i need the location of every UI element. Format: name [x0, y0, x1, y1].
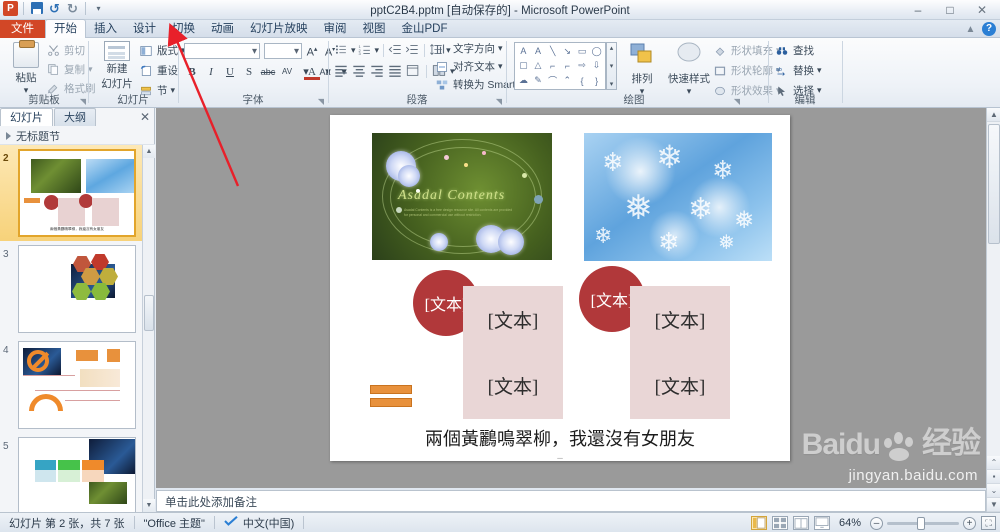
shape-arrow-icon[interactable]: ↘: [560, 44, 575, 59]
thumb-circle-1: [44, 195, 59, 210]
shape-left-brace-icon[interactable]: {: [575, 73, 590, 88]
shape-right-brace-icon[interactable]: }: [589, 73, 604, 88]
window-controls: – □ ✕: [902, 0, 998, 19]
shape-triangle-icon[interactable]: △: [531, 59, 546, 74]
slide-circle-1-text: [文本]: [425, 291, 468, 315]
scroll-down-icon[interactable]: ▼: [987, 498, 1000, 512]
slide-textbox-2-line-2: [文本]: [655, 372, 706, 399]
window-title: pptC2B4.pptm [自动保存的] - Microsoft PowerPo…: [0, 2, 1000, 18]
text-direction-label: 文字方向: [453, 41, 495, 56]
shape-cloud-icon[interactable]: ☁: [516, 73, 531, 88]
cut-label: 剪切: [64, 43, 85, 58]
thumb-circle-2: [79, 194, 93, 208]
divider: [88, 41, 89, 103]
divider: [768, 41, 769, 103]
font-name-combo[interactable]: ▾: [184, 43, 260, 59]
slide-image-title: Asadal Contents: [398, 188, 505, 204]
tab-kingsoft-pdf[interactable]: 金山PDF: [394, 20, 456, 38]
divider: [178, 41, 179, 103]
tab-slideshow[interactable]: 幻灯片放映: [242, 20, 316, 38]
reset-label: 重设: [157, 63, 178, 78]
align-center-icon[interactable]: [352, 64, 367, 78]
increase-indent-icon[interactable]: [405, 43, 420, 57]
ribbon-group-clipboard: 粘贴 ▾ 剪切 复制 ▾: [0, 38, 88, 108]
zoom-out-button[interactable]: –: [870, 517, 883, 530]
replace-arrow[interactable]: ▾: [817, 65, 822, 76]
layout-icon: [140, 44, 154, 58]
collapse-triangle-icon[interactable]: [6, 132, 11, 140]
shape-fill-icon: [714, 44, 728, 58]
thumbnail-number: 5: [3, 441, 9, 452]
thumbnail-slide-2[interactable]: 2 兩個黃鸝鳴翠柳，我還沒有女朋友: [0, 145, 143, 241]
slides-pane: 幻灯片 大纲 ✕ 无标题节 2 兩個黃鸝鳴翠柳，我還沒有女朋友: [0, 108, 155, 512]
replace-label: 替换: [793, 63, 814, 78]
divider: [383, 44, 384, 57]
strikethrough-button[interactable]: abc: [260, 64, 276, 80]
tab-home[interactable]: 开始: [45, 19, 86, 38]
shape-textbox-vertical-icon[interactable]: A: [531, 44, 546, 59]
ribbon-group-editing: 查找 ab 替换 ▾ 选择 ▾ 编辑: [770, 38, 840, 108]
scrollbar-thumb[interactable]: [988, 124, 1000, 244]
character-spacing-button[interactable]: AV: [279, 64, 295, 80]
slide-caption[interactable]: 兩個黃鸝鳴翠柳，我還沒有女朋友: [330, 425, 790, 451]
align-text-icon: [436, 60, 450, 74]
zoom-knob[interactable]: [917, 517, 925, 530]
watermark-brand-cn: 经验: [922, 418, 980, 462]
replace-icon: ab: [776, 64, 790, 78]
zoom-slider[interactable]: – +: [870, 517, 976, 530]
divider: [328, 41, 329, 103]
svg-text:ab: ab: [776, 67, 782, 73]
thumbnail-caption: 兩個黃鸝鳴翠柳，我還沒有女朋友: [20, 227, 134, 232]
status-bar: 幻灯片 第 2 张，共 7 张 "Office 主题" 中文(中国) 64%: [0, 512, 1000, 532]
slides-pane-scrollbar[interactable]: ▲ ▼: [142, 145, 154, 512]
previous-slide-icon[interactable]: ⌃: [987, 456, 1000, 470]
divider: [842, 41, 843, 103]
font-size-combo[interactable]: ▾: [264, 43, 302, 59]
svg-text:3: 3: [358, 51, 361, 56]
arrange-label: 排列: [622, 71, 662, 86]
thumbnail-number: 2: [3, 153, 9, 164]
slide-orange-bar-2[interactable]: [370, 398, 412, 407]
thumb-tile-3b: [82, 470, 104, 482]
slide-footer-dash: –: [330, 453, 790, 464]
underline-button[interactable]: U: [222, 64, 238, 80]
arrange-button[interactable]: 排列 ▾: [622, 42, 662, 97]
new-slide-label-2: 幻灯片: [94, 76, 140, 91]
thumb-tile-2b: [58, 470, 80, 482]
tab-insert[interactable]: 插入: [86, 20, 125, 38]
shape-down-arrow-icon[interactable]: ⇩: [589, 59, 604, 74]
align-left-icon[interactable]: [334, 64, 349, 78]
minimize-ribbon-icon[interactable]: ▲: [964, 23, 977, 36]
maximize-button[interactable]: □: [934, 0, 966, 19]
language-indicator[interactable]: 中文(中国): [215, 515, 303, 531]
shape-textbox-icon[interactable]: A: [516, 44, 531, 59]
decrease-indent-icon[interactable]: [388, 43, 403, 57]
language-label: 中文(中国): [243, 515, 294, 531]
quick-styles-button[interactable]: 快速样式 ▾: [664, 42, 714, 97]
thumbnail-frame: [18, 245, 136, 333]
divider: [303, 516, 304, 529]
scroll-up-icon[interactable]: ▲: [143, 145, 155, 158]
slide-sorter-button[interactable]: [772, 516, 788, 530]
columns-icon[interactable]: [406, 64, 421, 78]
numbering-icon[interactable]: 123: [358, 43, 373, 57]
slide-textbox-2[interactable]: [文本] [文本]: [630, 286, 730, 419]
zoom-level-label[interactable]: 64%: [835, 517, 865, 529]
group-caption-paragraph: 段落: [330, 92, 504, 107]
powerpoint-window: P ↺ ↻ ▾ pptC2B4.pptm [自动保存的] - Microsoft…: [0, 0, 1000, 532]
numbering-arrow[interactable]: ▾: [375, 45, 380, 56]
thumb-orange-box-2: [107, 349, 120, 362]
thumbnail-list[interactable]: 2 兩個黃鸝鳴翠柳，我還沒有女朋友 3: [0, 145, 143, 512]
gallery-more-icon[interactable]: ▾: [610, 80, 614, 88]
shapes-gallery[interactable]: A A ╲ ↘ ▭ ◯ ▢ △ ⌐ ⌐ ⇨ ⇩ ☁ ✎ ⌒ ⌃ { }: [514, 42, 606, 90]
minimize-button[interactable]: –: [902, 0, 934, 19]
slideshow-button[interactable]: [814, 516, 830, 530]
ribbon-group-slides: 新建 幻灯片 版式 ▾ 重设: [90, 38, 176, 108]
drawing-dialog-launcher[interactable]: ◥: [734, 97, 740, 106]
italic-button[interactable]: I: [203, 64, 219, 80]
quick-styles-icon: [675, 42, 703, 66]
slide-image-snowflake[interactable]: ❄ ❄ ❄ ❅ ❄ ❅ ❄ ❄ ❅: [584, 133, 772, 261]
tab-transitions[interactable]: 切换: [164, 20, 203, 38]
new-slide-button[interactable]: 新建 幻灯片: [94, 41, 140, 91]
group-caption-clipboard: 剪贴板: [0, 92, 88, 107]
find-label: 查找: [793, 43, 814, 58]
thumbnail-number: 3: [3, 249, 9, 260]
group-caption-editing: 编辑: [770, 92, 840, 107]
scroll-up-icon[interactable]: ▲: [987, 108, 1000, 122]
find-button[interactable]: 查找: [776, 43, 822, 58]
status-right-controls: 64% – + ⛶: [751, 513, 996, 532]
pane-tab-slides[interactable]: 幻灯片: [0, 108, 53, 126]
thumbnail-number: 4: [3, 345, 9, 356]
gallery-scroll-up-icon[interactable]: ▴: [610, 44, 614, 52]
thumb-tile-3: [82, 460, 104, 470]
grow-font-button[interactable]: A▴: [304, 42, 320, 58]
paste-label: 粘贴: [6, 70, 46, 85]
thumb-arc: [29, 394, 63, 411]
section-name: 无标题节: [16, 128, 60, 144]
thumb-image-snow: [86, 159, 134, 193]
slide-textbox-2-line-1: [文本]: [655, 306, 706, 333]
zoom-track[interactable]: [887, 522, 959, 525]
ribbon-help-controls: ▲ ?: [964, 22, 996, 36]
layout-label: 版式: [157, 43, 178, 58]
divider: [424, 44, 425, 57]
thumb-tile-1: [35, 460, 56, 470]
normal-view-button[interactable]: [751, 516, 767, 530]
thumbnail-slide-3[interactable]: 3: [0, 241, 143, 337]
scroll-down-icon[interactable]: ▼: [143, 499, 155, 512]
thumb-orange-bar: [24, 198, 40, 203]
notes-pane[interactable]: 单击此处添加备注: [156, 490, 986, 512]
shape-fill-label: 形状填充: [731, 43, 773, 58]
gallery-scroll-down-icon[interactable]: ▾: [610, 62, 614, 70]
thumb-line-3: [65, 400, 120, 401]
new-slide-label-1: 新建: [94, 61, 140, 76]
shape-outline-icon: [714, 64, 728, 78]
reading-view-button[interactable]: [793, 516, 809, 530]
shape-elbow2-icon[interactable]: ⌐: [560, 59, 575, 74]
copy-label: 复制: [64, 62, 85, 77]
fit-to-window-button[interactable]: ⛶: [981, 516, 996, 530]
bullets-arrow[interactable]: ▾: [351, 45, 356, 56]
slide-editor[interactable]: Asadal Contents Asadal Contents is a fre…: [156, 108, 986, 488]
thumbnail-slide-4[interactable]: 4: [0, 337, 143, 433]
close-button[interactable]: ✕: [966, 0, 998, 19]
shape-elbow-icon[interactable]: ⌐: [545, 59, 560, 74]
slide-image-subtext: Asadal Contents is a free design resourc…: [404, 208, 514, 218]
group-caption-slides: 幻灯片: [90, 92, 176, 107]
align-right-icon[interactable]: [370, 64, 385, 78]
slide-textbox-1-line-2: [文本]: [488, 372, 539, 399]
scissors-icon: [47, 44, 61, 58]
current-slide[interactable]: Asadal Contents Asadal Contents is a fre…: [330, 115, 790, 461]
bold-button[interactable]: B: [184, 64, 200, 80]
paste-button[interactable]: 粘贴 ▾: [6, 42, 46, 96]
arrange-icon: [628, 42, 656, 66]
shape-arc-icon[interactable]: ⌃: [560, 73, 575, 88]
thumb-orange-box-1: [76, 350, 98, 361]
shape-right-arrow-icon[interactable]: ⇨: [575, 59, 590, 74]
slides-pane-tabs: 幻灯片 大纲 ✕: [0, 108, 155, 127]
divider: [426, 65, 427, 78]
zoom-in-button[interactable]: +: [963, 517, 976, 530]
shape-rounded-rect-icon[interactable]: ▢: [516, 59, 531, 74]
theme-label[interactable]: "Office 主题": [135, 515, 214, 531]
shape-curve-icon[interactable]: ⌒: [545, 73, 560, 88]
thumb-line-2: [35, 390, 120, 391]
paragraph-dialog-launcher[interactable]: ◥: [496, 97, 502, 106]
align-text-label: 对齐文本: [453, 59, 495, 74]
replace-button[interactable]: ab 替换 ▾: [776, 63, 822, 78]
thumb-line-1: [23, 375, 75, 376]
shape-outline-label: 形状轮廓: [731, 63, 773, 78]
slide-image-floral[interactable]: Asadal Contents Asadal Contents is a fre…: [372, 133, 552, 260]
slide-textbox-1[interactable]: [文本] [文本]: [463, 286, 563, 419]
watermark-brand: Baidu: [802, 428, 880, 462]
thumb-tile-2: [58, 460, 80, 470]
paw-icon: [884, 432, 918, 462]
shape-rectangle-icon[interactable]: ▭: [575, 44, 590, 59]
text-direction-arrow[interactable]: ▾: [498, 43, 503, 54]
section-header[interactable]: 无标题节: [0, 127, 155, 145]
tab-view[interactable]: 视图: [355, 20, 394, 38]
watermark-url: jingyan.baidu.com: [849, 467, 978, 484]
reset-icon: [140, 64, 154, 78]
text-shadow-button[interactable]: S: [241, 64, 257, 80]
align-text-arrow[interactable]: ▾: [498, 61, 503, 72]
thumb-green-image: [89, 482, 127, 504]
thumb-tile-1b: [35, 470, 56, 482]
binoculars-icon: [776, 44, 790, 58]
thumbnail-frame: 兩個黃鸝鳴翠柳，我還沒有女朋友: [18, 149, 136, 237]
close-pane-icon[interactable]: ✕: [140, 110, 150, 124]
next-slide-icon[interactable]: ⌄: [987, 484, 1000, 498]
thumbnail-frame: [18, 341, 136, 429]
clipboard-dialog-launcher[interactable]: ◥: [80, 97, 86, 106]
bullets-icon[interactable]: [334, 43, 349, 57]
copy-icon: [47, 63, 61, 77]
new-slide-icon: [104, 41, 130, 61]
shapes-gallery-scrollbar[interactable]: ▴ ▾ ▾: [606, 42, 617, 90]
group-caption-font: 字体: [180, 92, 326, 107]
font-dialog-launcher[interactable]: ◥: [318, 97, 324, 106]
ribbon-group-paragraph: ▾ 123 ▾ ▾ ▾: [330, 38, 504, 108]
shape-scribble-icon[interactable]: ✎: [531, 73, 546, 88]
smartart-icon: [436, 78, 450, 92]
thumb-warm-image: [80, 369, 120, 387]
slide-circle-2-text: [文本]: [591, 287, 634, 311]
ribbon: 粘贴 ▾ 剪切 复制 ▾: [0, 38, 1000, 108]
tab-design[interactable]: 设计: [125, 20, 164, 38]
ribbon-tabs: 文件 开始 插入 设计 切换 动画 幻灯片放映 审阅 视图 金山PDF ▲ ?: [0, 20, 1000, 38]
slide-marker-icon[interactable]: ▪: [987, 470, 1000, 484]
slide-orange-bar-1[interactable]: [370, 385, 412, 394]
shape-line-icon[interactable]: ╲: [545, 44, 560, 59]
thumb-pink-2: [92, 198, 119, 226]
justify-icon[interactable]: [388, 64, 403, 78]
group-caption-drawing: 绘图: [508, 92, 760, 107]
quick-styles-label: 快速样式: [664, 71, 714, 86]
thumb-image-floral: [31, 159, 81, 193]
text-direction-icon: [436, 42, 450, 56]
editor-vertical-scrollbar[interactable]: ▲ ⌃ ▪ ⌄ ▼: [986, 108, 1000, 512]
slide-position-label: 幻灯片 第 2 张，共 7 张: [0, 515, 134, 531]
tab-review[interactable]: 审阅: [316, 20, 355, 38]
font-color-button[interactable]: A: [304, 64, 320, 80]
tab-animations[interactable]: 动画: [203, 20, 242, 38]
ribbon-group-drawing: A A ╲ ↘ ▭ ◯ ▢ △ ⌐ ⌐ ⇨ ⇩ ☁ ✎ ⌒ ⌃ { } ▴: [508, 38, 760, 108]
scrollbar-thumb[interactable]: [144, 295, 154, 331]
slide-textbox-1-line-1: [文本]: [488, 306, 539, 333]
spellcheck-icon: [224, 515, 238, 530]
watermark: Baidu 经验: [802, 418, 980, 462]
pane-tab-outline[interactable]: 大纲: [54, 108, 96, 126]
ribbon-group-font: ▾ ▾ A▴ A▾ B I U S abc AV ▾ Aa ▾: [180, 38, 326, 108]
shape-oval-icon[interactable]: ◯: [589, 44, 604, 59]
clipboard-icon: [13, 42, 39, 68]
divider: [506, 41, 507, 103]
help-icon[interactable]: ?: [982, 22, 996, 36]
title-bar: P ↺ ↻ ▾ pptC2B4.pptm [自动保存的] - Microsoft…: [0, 0, 1000, 20]
tab-file[interactable]: 文件: [0, 20, 45, 38]
